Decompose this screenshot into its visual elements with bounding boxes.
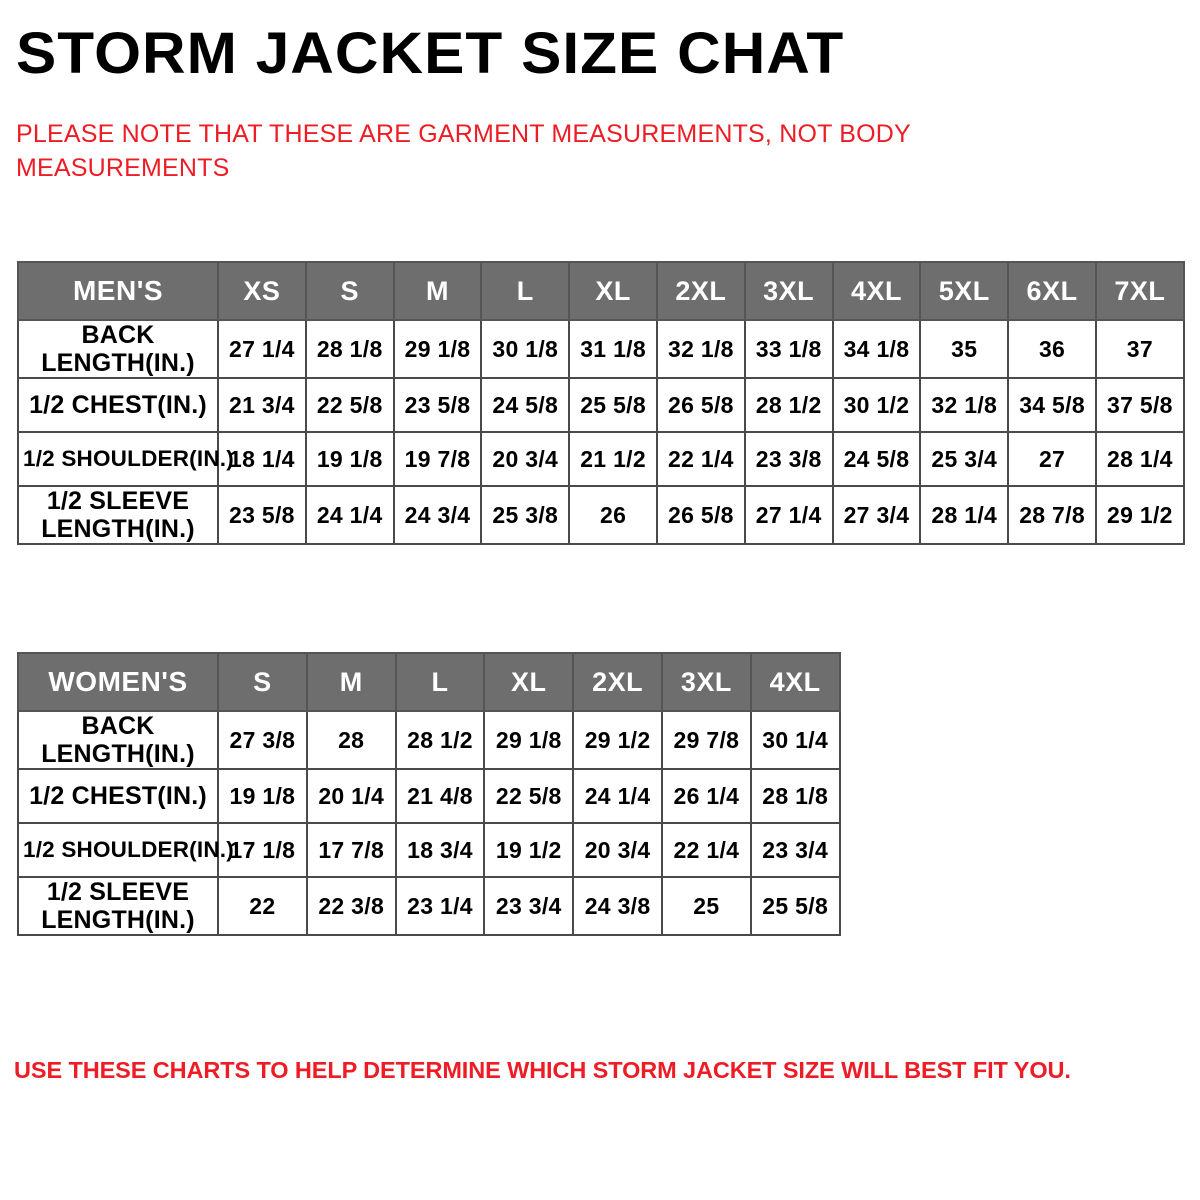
mens-col-header-3xl: 3XL bbox=[745, 262, 833, 320]
cell: 25 5/8 bbox=[569, 378, 657, 432]
cell: 22 1/4 bbox=[657, 432, 745, 486]
cell: 28 1/2 bbox=[396, 711, 485, 769]
mens-row-label-half-sleeve-length: 1/2 SLEEVE LENGTH(IN.) bbox=[18, 486, 218, 544]
cell: 24 3/4 bbox=[394, 486, 482, 544]
cell: 27 3/8 bbox=[218, 711, 307, 769]
cell: 21 4/8 bbox=[396, 769, 485, 823]
cell: 18 3/4 bbox=[396, 823, 485, 877]
mens-corner-label: MEN'S bbox=[18, 262, 218, 320]
cell: 22 1/4 bbox=[662, 823, 751, 877]
cell: 24 5/8 bbox=[833, 432, 921, 486]
cell: 28 1/4 bbox=[1096, 432, 1184, 486]
cell: 29 1/2 bbox=[1096, 486, 1184, 544]
womens-col-header-2xl: 2XL bbox=[573, 653, 662, 711]
table-row: 1/2 SHOULDER(IN.) 17 1/8 17 7/8 18 3/4 1… bbox=[18, 823, 840, 877]
cell: 31 1/8 bbox=[569, 320, 657, 378]
cell: 25 3/4 bbox=[920, 432, 1008, 486]
cell: 28 1/4 bbox=[920, 486, 1008, 544]
cell: 26 bbox=[569, 486, 657, 544]
cell: 23 5/8 bbox=[394, 378, 482, 432]
cell: 25 bbox=[662, 877, 751, 935]
row-label-line: 1/2 SLEEVE bbox=[23, 878, 213, 906]
cell: 24 5/8 bbox=[481, 378, 569, 432]
cell: 25 3/8 bbox=[481, 486, 569, 544]
cell: 26 1/4 bbox=[662, 769, 751, 823]
cell: 36 bbox=[1008, 320, 1096, 378]
mens-col-header-7xl: 7XL bbox=[1096, 262, 1184, 320]
cell: 23 1/4 bbox=[396, 877, 485, 935]
cell: 34 1/8 bbox=[833, 320, 921, 378]
garment-measurement-note: PLEASE NOTE THAT THESE ARE GARMENT MEASU… bbox=[16, 118, 976, 185]
table-row: 1/2 SLEEVE LENGTH(IN.) 22 22 3/8 23 1/4 … bbox=[18, 877, 840, 935]
mens-col-header-2xl: 2XL bbox=[657, 262, 745, 320]
cell: 19 7/8 bbox=[394, 432, 482, 486]
cell: 28 7/8 bbox=[1008, 486, 1096, 544]
row-label-line: 1/2 SLEEVE bbox=[23, 487, 213, 515]
cell: 24 1/4 bbox=[306, 486, 394, 544]
cell: 27 3/4 bbox=[833, 486, 921, 544]
cell: 30 1/4 bbox=[751, 711, 840, 769]
cell: 34 5/8 bbox=[1008, 378, 1096, 432]
cell: 22 bbox=[218, 877, 307, 935]
cell: 28 1/2 bbox=[745, 378, 833, 432]
cell: 21 3/4 bbox=[218, 378, 306, 432]
cell: 21 1/2 bbox=[569, 432, 657, 486]
mens-col-header-5xl: 5XL bbox=[920, 262, 1008, 320]
cell: 33 1/8 bbox=[745, 320, 833, 378]
mens-col-header-xl: XL bbox=[569, 262, 657, 320]
womens-col-header-m: M bbox=[307, 653, 396, 711]
womens-row-label-back-length: BACK LENGTH(IN.) bbox=[18, 711, 218, 769]
cell: 30 1/2 bbox=[833, 378, 921, 432]
cell: 22 3/8 bbox=[307, 877, 396, 935]
table-row: BACK LENGTH(IN.) 27 3/8 28 28 1/2 29 1/8… bbox=[18, 711, 840, 769]
cell: 29 1/8 bbox=[394, 320, 482, 378]
cell: 29 7/8 bbox=[662, 711, 751, 769]
womens-row-label-half-chest: 1/2 CHEST(IN.) bbox=[18, 769, 218, 823]
womens-col-header-s: S bbox=[218, 653, 307, 711]
cell: 27 1/4 bbox=[745, 486, 833, 544]
table-row: BACK LENGTH(IN.) 27 1/4 28 1/8 29 1/8 30… bbox=[18, 320, 1184, 378]
cell: 17 1/8 bbox=[218, 823, 307, 877]
womens-header-row: WOMEN'S S M L XL 2XL 3XL 4XL bbox=[18, 653, 840, 711]
mens-col-header-xs: XS bbox=[218, 262, 306, 320]
cell: 19 1/8 bbox=[306, 432, 394, 486]
cell: 37 bbox=[1096, 320, 1184, 378]
cell: 30 1/8 bbox=[481, 320, 569, 378]
cell: 37 5/8 bbox=[1096, 378, 1184, 432]
table-row: 1/2 SHOULDER(IN.) 18 1/4 19 1/8 19 7/8 2… bbox=[18, 432, 1184, 486]
mens-size-table: MEN'S XS S M L XL 2XL 3XL 4XL 5XL 6XL 7X… bbox=[17, 261, 1185, 545]
cell: 29 1/8 bbox=[484, 711, 573, 769]
cell: 32 1/8 bbox=[657, 320, 745, 378]
row-label-line: BACK bbox=[23, 712, 213, 740]
cell: 23 3/4 bbox=[484, 877, 573, 935]
womens-row-label-half-shoulder: 1/2 SHOULDER(IN.) bbox=[18, 823, 218, 877]
womens-size-table: WOMEN'S S M L XL 2XL 3XL 4XL BACK LENGTH… bbox=[17, 652, 841, 936]
cell: 27 1/4 bbox=[218, 320, 306, 378]
mens-col-header-m: M bbox=[394, 262, 482, 320]
cell: 25 5/8 bbox=[751, 877, 840, 935]
mens-row-label-half-chest: 1/2 CHEST(IN.) bbox=[18, 378, 218, 432]
row-label-line: LENGTH(IN.) bbox=[23, 349, 213, 377]
cell: 20 1/4 bbox=[307, 769, 396, 823]
cell: 20 3/4 bbox=[573, 823, 662, 877]
cell: 22 5/8 bbox=[484, 769, 573, 823]
mens-col-header-s: S bbox=[306, 262, 394, 320]
cell: 19 1/8 bbox=[218, 769, 307, 823]
cell: 27 bbox=[1008, 432, 1096, 486]
cell: 22 5/8 bbox=[306, 378, 394, 432]
cell: 35 bbox=[920, 320, 1008, 378]
cell: 23 3/8 bbox=[745, 432, 833, 486]
mens-col-header-4xl: 4XL bbox=[833, 262, 921, 320]
row-label-line: LENGTH(IN.) bbox=[23, 906, 213, 934]
row-label-line: LENGTH(IN.) bbox=[23, 515, 213, 543]
cell: 23 3/4 bbox=[751, 823, 840, 877]
cell: 32 1/8 bbox=[920, 378, 1008, 432]
cell: 24 1/4 bbox=[573, 769, 662, 823]
cell: 19 1/2 bbox=[484, 823, 573, 877]
womens-col-header-l: L bbox=[396, 653, 485, 711]
womens-corner-label: WOMEN'S bbox=[18, 653, 218, 711]
womens-col-header-xl: XL bbox=[484, 653, 573, 711]
mens-row-label-back-length: BACK LENGTH(IN.) bbox=[18, 320, 218, 378]
mens-header-row: MEN'S XS S M L XL 2XL 3XL 4XL 5XL 6XL 7X… bbox=[18, 262, 1184, 320]
mens-col-header-6xl: 6XL bbox=[1008, 262, 1096, 320]
mens-row-label-half-shoulder: 1/2 SHOULDER(IN.) bbox=[18, 432, 218, 486]
cell: 28 1/8 bbox=[306, 320, 394, 378]
cell: 24 3/8 bbox=[573, 877, 662, 935]
womens-row-label-half-sleeve-length: 1/2 SLEEVE LENGTH(IN.) bbox=[18, 877, 218, 935]
cell: 28 1/8 bbox=[751, 769, 840, 823]
womens-col-header-4xl: 4XL bbox=[751, 653, 840, 711]
womens-col-header-3xl: 3XL bbox=[662, 653, 751, 711]
cell: 26 5/8 bbox=[657, 486, 745, 544]
cell: 17 7/8 bbox=[307, 823, 396, 877]
table-row: 1/2 CHEST(IN.) 21 3/4 22 5/8 23 5/8 24 5… bbox=[18, 378, 1184, 432]
row-label-line: BACK bbox=[23, 321, 213, 349]
table-row: 1/2 SLEEVE LENGTH(IN.) 23 5/8 24 1/4 24 … bbox=[18, 486, 1184, 544]
size-chart-page: STORM JACKET SIZE CHAT PLEASE NOTE THAT … bbox=[0, 0, 1200, 1200]
cell: 20 3/4 bbox=[481, 432, 569, 486]
cell: 26 5/8 bbox=[657, 378, 745, 432]
cell: 29 1/2 bbox=[573, 711, 662, 769]
cell: 28 bbox=[307, 711, 396, 769]
page-title: STORM JACKET SIZE CHAT bbox=[16, 24, 844, 85]
cell: 23 5/8 bbox=[218, 486, 306, 544]
mens-col-header-l: L bbox=[481, 262, 569, 320]
cell: 18 1/4 bbox=[218, 432, 306, 486]
use-charts-note: USE THESE CHARTS TO HELP DETERMINE WHICH… bbox=[14, 1057, 1174, 1084]
row-label-line: LENGTH(IN.) bbox=[23, 740, 213, 768]
table-row: 1/2 CHEST(IN.) 19 1/8 20 1/4 21 4/8 22 5… bbox=[18, 769, 840, 823]
